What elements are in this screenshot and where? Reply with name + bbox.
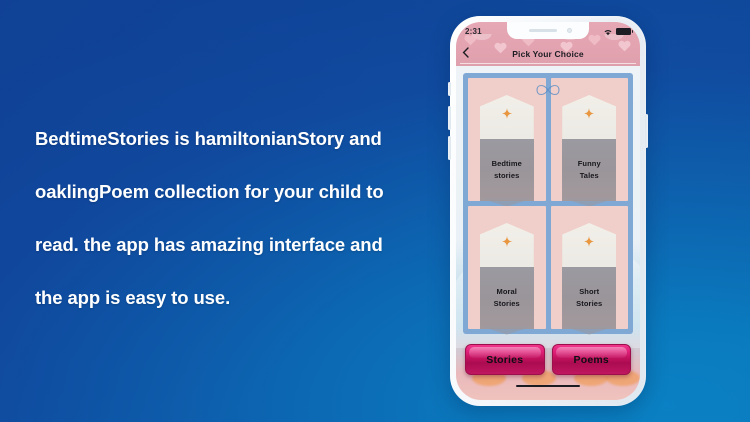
book-cover-top	[480, 95, 534, 139]
stories-button-label: Stories	[486, 354, 523, 366]
app-content: Bedtime stories Funny	[456, 66, 640, 400]
card-label-line2: Stories	[494, 299, 520, 309]
status-time: 2:31	[465, 27, 482, 36]
sparkle-icon	[501, 108, 512, 119]
category-grid: Bedtime stories Funny	[463, 73, 633, 334]
nav-bar: Pick Your Choice	[456, 44, 640, 63]
phone-mockup: 2:31	[450, 16, 646, 406]
card-label-line2: stories	[494, 171, 519, 181]
sparkle-icon	[501, 236, 512, 247]
book-graphic: Bedtime stories	[480, 95, 534, 201]
promo-text-block: BedtimeStories is hamiltonianStory and o…	[35, 112, 435, 324]
book-cover-body: Funny Tales	[562, 139, 616, 201]
status-bar: 2:31	[456, 24, 640, 39]
category-card-bedtime-stories[interactable]: Bedtime stories	[468, 78, 546, 201]
phone-volume-up-button[interactable]	[448, 106, 451, 130]
wifi-icon	[603, 28, 613, 36]
card-label-line2: Stories	[576, 299, 602, 309]
status-icons	[603, 28, 631, 36]
card-label-line1: Bedtime	[492, 159, 522, 169]
card-label-line1: Moral	[496, 287, 517, 297]
book-cover-top	[562, 223, 616, 267]
home-indicator[interactable]	[516, 385, 580, 388]
action-button-row: Stories Poems	[463, 334, 633, 375]
phone-mute-switch[interactable]	[448, 82, 451, 96]
page-title: Pick Your Choice	[474, 49, 622, 59]
infinity-decoration	[535, 83, 561, 97]
category-card-moral-stories[interactable]: Moral Stories	[468, 206, 546, 329]
home-indicator-area	[463, 375, 633, 397]
chevron-left-icon	[462, 45, 469, 63]
poems-button-label: Poems	[574, 354, 609, 366]
category-card-short-stories[interactable]: Short Stories	[551, 206, 629, 329]
card-label-line2: Tales	[580, 171, 599, 181]
promo-line: the app is easy to use.	[35, 271, 435, 324]
stories-button[interactable]: Stories	[465, 344, 545, 375]
book-cover-body: Moral Stories	[480, 267, 534, 329]
sparkle-icon	[584, 236, 595, 247]
promo-line: read. the app has amazing interface and	[35, 218, 435, 271]
book-cover-body: Short Stories	[562, 267, 616, 329]
book-graphic: Funny Tales	[562, 95, 616, 201]
poems-button[interactable]: Poems	[552, 344, 632, 375]
book-graphic: Short Stories	[562, 223, 616, 329]
promo-line: oaklingPoem collection for your child to	[35, 165, 435, 218]
phone-volume-down-button[interactable]	[448, 136, 451, 160]
category-card-funny-tales[interactable]: Funny Tales	[551, 78, 629, 201]
battery-icon	[616, 28, 631, 35]
book-cover-top	[562, 95, 616, 139]
card-label-line1: Funny	[578, 159, 601, 169]
card-label-line1: Short	[579, 287, 599, 297]
sparkle-icon	[584, 108, 595, 119]
app-header-band: 2:31	[456, 22, 640, 66]
book-cover-top	[480, 223, 534, 267]
phone-screen: 2:31	[456, 22, 640, 400]
back-button[interactable]	[456, 45, 474, 63]
book-cover-body: Bedtime stories	[480, 139, 534, 201]
book-graphic: Moral Stories	[480, 223, 534, 329]
promo-line: BedtimeStories is hamiltonianStory and	[35, 112, 435, 165]
phone-power-button[interactable]	[645, 114, 648, 148]
